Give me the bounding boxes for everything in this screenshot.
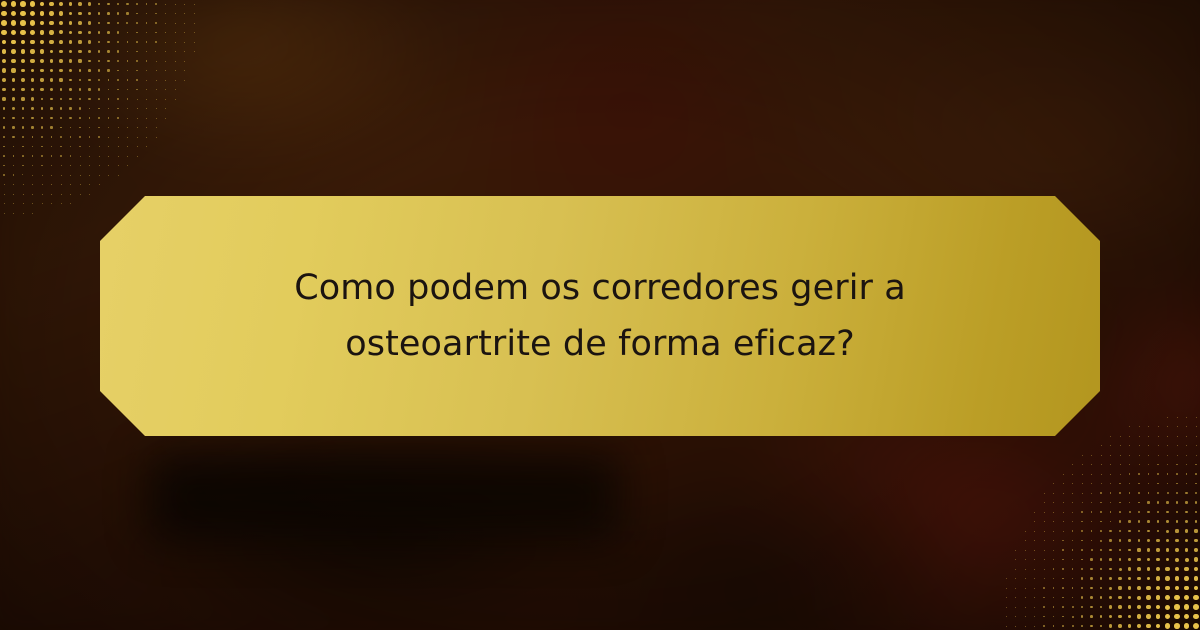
halftone-dot	[1072, 606, 1074, 608]
halftone-dot	[11, 11, 17, 17]
halftone-dot	[1156, 624, 1161, 629]
halftone-dot	[156, 137, 157, 138]
halftone-dot	[1090, 615, 1093, 618]
halftone-dot	[1165, 595, 1170, 600]
halftone-dot	[1174, 614, 1179, 619]
halftone-dot	[184, 32, 185, 33]
halftone-dot	[70, 136, 72, 138]
halftone-dot	[1119, 558, 1122, 561]
halftone-dot	[118, 175, 119, 176]
halftone-dot	[99, 175, 100, 176]
halftone-dot	[1034, 559, 1035, 560]
halftone-dot	[1091, 549, 1093, 551]
halftone-dot	[107, 22, 110, 25]
halftone-dot	[21, 49, 26, 54]
halftone-dot	[41, 107, 44, 110]
halftone-dot	[32, 165, 33, 166]
halftone-dot	[31, 69, 35, 73]
halftone-dot	[22, 165, 23, 166]
halftone-dot	[1156, 605, 1161, 610]
halftone-dot	[1043, 587, 1044, 588]
halftone-dot	[70, 184, 71, 185]
halftone-dot	[175, 89, 176, 90]
halftone-dot	[70, 127, 72, 129]
halftone-dot	[108, 117, 109, 118]
halftone-dot	[79, 69, 82, 72]
halftone-dot	[1166, 520, 1169, 523]
halftone-dot	[1062, 587, 1064, 589]
halftone-dot	[1184, 614, 1190, 620]
halftone-dot	[146, 32, 147, 33]
halftone-dot	[30, 1, 35, 6]
halftone-dot	[1025, 569, 1026, 570]
halftone-dot	[146, 41, 147, 42]
halftone-dot	[61, 165, 62, 166]
halftone-dot	[1177, 445, 1178, 446]
halftone-dot	[165, 4, 166, 5]
halftone-dot	[117, 12, 119, 14]
halftone-dot	[2, 49, 7, 54]
halftone-dot	[32, 213, 33, 214]
halftone-dot	[1118, 605, 1122, 609]
halftone-dot	[117, 60, 119, 62]
halftone-dot	[3, 126, 5, 128]
halftone-dot	[1062, 559, 1063, 560]
halftone-dot	[146, 60, 147, 61]
halftone-dot	[1175, 586, 1180, 591]
halftone-dot	[1147, 539, 1150, 542]
halftone-dot	[1128, 577, 1131, 580]
halftone-dot	[1015, 616, 1016, 617]
halftone-dot	[89, 136, 90, 137]
halftone-dot	[1184, 623, 1190, 629]
halftone-dot	[1118, 596, 1121, 599]
halftone-dot	[1165, 576, 1169, 580]
halftone-dot	[1044, 550, 1045, 551]
halftone-dot	[117, 117, 118, 118]
halftone-dot	[1176, 464, 1177, 465]
halftone-dot	[41, 146, 43, 148]
halftone-dot	[1196, 455, 1197, 456]
halftone-dot	[51, 184, 52, 185]
halftone-dot	[42, 175, 43, 176]
halftone-dot	[1006, 607, 1007, 608]
halftone-dot	[1100, 540, 1102, 542]
halftone-dot	[1044, 521, 1045, 522]
halftone-dot	[165, 61, 166, 62]
halftone-dot	[13, 203, 14, 204]
halftone-dot	[51, 136, 53, 138]
halftone-dot	[1174, 604, 1179, 609]
halftone-dot	[88, 40, 91, 43]
halftone-dot	[59, 21, 63, 25]
halftone-dot	[1034, 588, 1035, 589]
halftone-dot	[1129, 483, 1130, 484]
halftone-dot	[60, 117, 62, 119]
halftone-dot	[1109, 587, 1112, 590]
halftone-dot	[88, 12, 91, 15]
halftone-dot	[1128, 586, 1132, 590]
halftone-dot	[1072, 502, 1073, 503]
halftone-dot	[1034, 616, 1035, 617]
halftone-dot	[4, 203, 5, 204]
halftone-dot	[1044, 531, 1045, 532]
halftone-dot	[156, 108, 157, 109]
halftone-dot	[1129, 464, 1130, 465]
halftone-dot	[59, 50, 63, 54]
halftone-dot	[127, 32, 129, 34]
halftone-dot	[20, 30, 25, 35]
halftone-dot	[1129, 445, 1130, 446]
halftone-dot	[1015, 559, 1016, 560]
halftone-dot	[1082, 464, 1083, 465]
halftone-dot	[1147, 511, 1149, 513]
halftone-dot	[108, 137, 109, 138]
halftone-dot	[1165, 605, 1170, 610]
halftone-dot	[13, 184, 14, 185]
halftone-dot	[78, 40, 81, 43]
halftone-dot	[1109, 577, 1112, 580]
halftone-dot	[1081, 577, 1083, 579]
halftone-dot	[136, 70, 137, 71]
halftone-dot	[31, 117, 34, 120]
halftone-dot	[137, 146, 138, 147]
halftone-dot	[194, 13, 195, 14]
halftone-dot	[60, 155, 61, 156]
halftone-dot	[1025, 607, 1026, 608]
halftone-dot	[1156, 539, 1159, 542]
halftone-dot	[22, 107, 25, 110]
halftone-dot	[78, 12, 82, 16]
halftone-dot	[1053, 597, 1054, 598]
halftone-dot	[1053, 568, 1054, 569]
halftone-dot	[1100, 606, 1103, 609]
halftone-dot	[99, 156, 100, 157]
halftone-dot	[2, 97, 5, 100]
halftone-dot	[89, 127, 90, 128]
halftone-dot	[22, 155, 24, 157]
halftone-dot	[12, 126, 14, 128]
halftone-dot	[1138, 520, 1140, 522]
halftone-dot	[30, 11, 35, 16]
halftone-dot	[89, 156, 90, 157]
halftone-dot	[1053, 493, 1054, 494]
halftone-dot	[1006, 597, 1007, 598]
halftone-dot	[32, 136, 34, 138]
halftone-dot	[136, 89, 137, 90]
halftone-dot	[1156, 614, 1161, 619]
halftone-dot	[175, 99, 176, 100]
halftone-dot	[78, 59, 81, 62]
halftone-dot	[1091, 483, 1092, 484]
halftone-dot	[1167, 436, 1168, 437]
halftone-dot	[117, 41, 119, 43]
halftone-dot	[1156, 595, 1161, 600]
halftone-dot	[146, 137, 147, 138]
halftone-dot	[1090, 577, 1092, 579]
halftone-dot	[1110, 436, 1111, 437]
halftone-dot	[1063, 483, 1064, 484]
halftone-dot	[78, 31, 81, 34]
halftone-dot	[1109, 530, 1111, 532]
halftone-dot	[165, 70, 166, 71]
halftone-dot	[12, 78, 16, 82]
halftone-dot	[156, 61, 157, 62]
halftone-dot	[1063, 531, 1064, 532]
halftone-dot	[1044, 569, 1045, 570]
halftone-dot	[88, 31, 91, 34]
halftone-dot	[1186, 436, 1187, 437]
halftone-dot	[117, 70, 119, 72]
halftone-dot	[89, 184, 90, 185]
halftone-dot	[3, 165, 4, 166]
halftone-dot	[2, 59, 6, 63]
halftone-dot	[61, 184, 62, 185]
halftone-dot	[98, 136, 99, 137]
halftone-dot	[12, 136, 14, 138]
halftone-dot	[108, 79, 110, 81]
halftone-dot	[32, 203, 33, 204]
halftone-dot	[1129, 502, 1131, 504]
halftone-dot	[1148, 436, 1149, 437]
halftone-dot	[13, 213, 14, 214]
halftone-dot	[1072, 530, 1073, 531]
halftone-dot	[194, 51, 195, 52]
halftone-dot	[1109, 558, 1112, 561]
halftone-dot	[175, 80, 176, 81]
halftone-dot	[1128, 596, 1132, 600]
halftone-dot	[107, 31, 110, 34]
halftone-dot	[108, 175, 109, 176]
halftone-dot	[1129, 492, 1131, 494]
halftone-dot	[194, 4, 195, 5]
halftone-dot	[1110, 455, 1111, 456]
halftone-dot	[1062, 549, 1063, 550]
halftone-dot	[1175, 529, 1178, 532]
halftone-dot	[30, 49, 34, 53]
halftone-dot	[1148, 455, 1149, 456]
halftone-dot	[1165, 623, 1170, 628]
halftone-dot	[118, 137, 119, 138]
halftone-dot	[1091, 464, 1092, 465]
halftone-dot	[1139, 464, 1140, 465]
halftone-dot	[175, 42, 176, 43]
halftone-dot	[175, 13, 176, 14]
halftone-dot	[1194, 548, 1198, 552]
halftone-dot	[1167, 492, 1169, 494]
halftone-dot	[146, 70, 147, 71]
halftone-dot	[1110, 483, 1111, 484]
halftone-dot	[1184, 604, 1189, 609]
halftone-dot	[1128, 549, 1131, 552]
halftone-dot	[69, 59, 72, 62]
halftone-dot	[1101, 445, 1102, 446]
halftone-dot	[1186, 417, 1187, 418]
halftone-dot	[1091, 493, 1092, 494]
halftone-dot	[98, 60, 101, 63]
halftone-dot	[1156, 567, 1160, 571]
halftone-dot	[51, 165, 52, 166]
halftone-dot	[184, 51, 185, 52]
halftone-dot	[1100, 596, 1103, 599]
halftone-dot	[1157, 483, 1159, 485]
halftone-dot	[49, 2, 54, 7]
halftone-dot	[89, 194, 90, 195]
halftone-dot	[1148, 492, 1150, 494]
halftone-dot	[1062, 616, 1064, 618]
halftone-dot	[1015, 626, 1016, 627]
halftone-dot	[32, 194, 33, 195]
halftone-dot	[13, 165, 14, 166]
halftone-dot	[1176, 520, 1179, 523]
halftone-dot	[1186, 426, 1187, 427]
halftone-dot	[40, 49, 44, 53]
halftone-dot	[69, 21, 73, 25]
halftone-dot	[1110, 521, 1112, 523]
halftone-dot	[108, 89, 110, 91]
halftone-dot	[1109, 568, 1112, 571]
halftone-dot	[1176, 492, 1178, 494]
halftone-dot	[1195, 492, 1197, 494]
halftone-dot	[108, 156, 109, 157]
halftone-dot	[1167, 483, 1169, 485]
halftone-dot	[1034, 597, 1035, 598]
halftone-dot	[12, 97, 15, 100]
halftone-dot	[88, 98, 90, 100]
halftone-dot	[21, 78, 25, 82]
halftone-dot	[1185, 548, 1189, 552]
halftone-dot	[1196, 436, 1197, 437]
halftone-dot	[50, 59, 54, 63]
halftone-dot	[23, 194, 24, 195]
halftone-dot	[4, 184, 5, 185]
halftone-dot	[60, 88, 63, 91]
halftone-dot	[1090, 596, 1093, 599]
halftone-dot	[69, 117, 71, 119]
halftone-dot	[11, 30, 16, 35]
halftone-dot	[1137, 567, 1141, 571]
halftone-dot	[12, 117, 15, 120]
halftone-dot	[155, 13, 156, 14]
halftone-dot	[69, 79, 72, 82]
halftone-dot	[1147, 558, 1151, 562]
halftone-dot	[1167, 417, 1168, 418]
halftone-dot	[98, 108, 100, 110]
halftone-dot	[50, 78, 53, 81]
halftone-dot	[59, 30, 63, 34]
halftone-dot	[1053, 502, 1054, 503]
halftone-dot	[1157, 473, 1158, 474]
halftone-dot	[99, 184, 100, 185]
halftone-dot	[1090, 568, 1092, 570]
halftone-dot	[117, 108, 118, 109]
halftone-dot	[1196, 445, 1197, 446]
halftone-dot	[1072, 464, 1073, 465]
halftone-dot	[1119, 568, 1122, 571]
halftone-dot	[69, 40, 73, 44]
halftone-dot	[49, 30, 53, 34]
halftone-dot	[146, 22, 147, 23]
halftone-dot	[1129, 511, 1131, 513]
halftone-dot	[1184, 586, 1189, 591]
halftone-dot	[1184, 595, 1189, 600]
halftone-dot	[126, 22, 128, 24]
halftone-dot	[40, 78, 43, 81]
halftone-dot	[40, 88, 43, 91]
halftone-dot	[1195, 511, 1198, 514]
halftone-dot	[1129, 473, 1130, 474]
halftone-dot	[155, 3, 156, 4]
halftone-dot	[89, 108, 91, 110]
halftone-dot	[50, 126, 52, 128]
halftone-dot	[155, 41, 156, 42]
halftone-dot	[1175, 567, 1179, 571]
halftone-dot	[1110, 492, 1111, 493]
halftone-dot	[1034, 531, 1035, 532]
halftone-dot	[79, 98, 81, 100]
halftone-dot	[1034, 550, 1035, 551]
halftone-dot	[1194, 586, 1199, 591]
halftone-dot	[146, 89, 147, 90]
halftone-dot	[1137, 548, 1140, 551]
halftone-dot	[1147, 577, 1151, 581]
question-badge: Como podem os corredores gerir a osteoar…	[100, 196, 1100, 436]
halftone-dot	[1063, 493, 1064, 494]
halftone-dot	[60, 146, 61, 147]
halftone-dot	[99, 165, 100, 166]
halftone-dot	[1138, 539, 1141, 542]
halftone-dot	[1193, 595, 1198, 600]
halftone-dot	[1034, 569, 1035, 570]
halftone-dot	[1053, 559, 1054, 560]
halftone-dot	[1082, 455, 1083, 456]
halftone-dot	[146, 127, 147, 128]
halftone-dot	[1081, 540, 1083, 542]
halftone-dot	[1072, 512, 1073, 513]
halftone-dot	[59, 59, 63, 63]
halftone-dot	[41, 165, 42, 166]
halftone-dot	[146, 80, 147, 81]
halftone-dot	[11, 40, 16, 45]
halftone-dot	[127, 51, 129, 53]
halftone-dot	[1138, 511, 1140, 513]
halftone-dot	[41, 117, 43, 119]
halftone-dot	[1196, 426, 1197, 427]
halftone-dot	[1193, 614, 1199, 620]
halftone-dot	[30, 59, 34, 63]
halftone-dot	[126, 12, 128, 14]
halftone-dot	[2, 40, 7, 45]
halftone-dot	[146, 146, 147, 147]
halftone-dot	[1138, 483, 1139, 484]
halftone-dot	[1128, 530, 1130, 532]
halftone-dot	[41, 155, 42, 156]
halftone-dot	[108, 108, 109, 109]
halftone-dot	[118, 146, 119, 147]
halftone-dot	[70, 175, 71, 176]
halftone-dot	[69, 88, 72, 91]
halftone-dot	[1194, 576, 1199, 581]
halftone-dot	[165, 13, 166, 14]
halftone-dot	[32, 175, 33, 176]
halftone-dot	[3, 155, 5, 157]
halftone-dot	[88, 50, 91, 53]
halftone-dot	[1156, 548, 1159, 551]
halftone-dot	[1109, 539, 1111, 541]
halftone-dot	[50, 88, 53, 91]
halftone-dot	[1006, 578, 1007, 579]
halftone-dot	[21, 97, 24, 100]
